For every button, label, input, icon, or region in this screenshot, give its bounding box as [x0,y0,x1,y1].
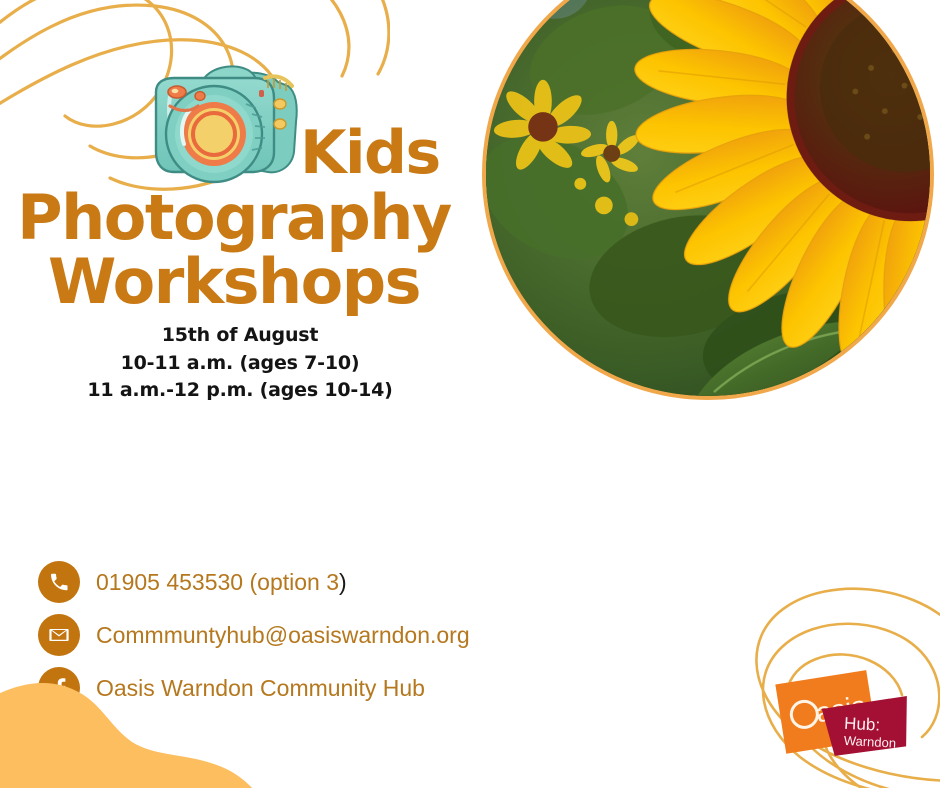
heading-workshops: Workshops [0,252,468,312]
heading-kids: Kids [300,124,440,182]
phone-trailing-paren: ) [339,569,347,595]
contact-phone-text: 01905 453530 (option 3) [96,569,347,596]
phone-icon [38,561,80,603]
schedule-date: 15th of August [0,322,480,350]
heading-photography: Photography [0,188,468,248]
svg-text:Warndon: Warndon [843,733,896,751]
envelope-icon [38,614,80,656]
blob-decoration-bottom-left [0,680,290,788]
sunflower-photo [482,0,934,400]
svg-text:Hub:: Hub: [844,714,881,735]
oasis-hub-logo: asis Hub: Warndon [762,662,922,762]
poster-canvas: Kids Photography Workshops 15th of Augus… [0,0,940,788]
camera-illustration [128,48,318,196]
contact-email-text: Commmuntyhub@oasiswarndon.org [96,622,470,649]
schedule-session-1: 10-11 a.m. (ages 7-10) [0,350,480,378]
schedule-block: 15th of August 10-11 a.m. (ages 7-10) 11… [0,322,480,405]
contact-row-phone[interactable]: 01905 453530 (option 3) [38,560,558,604]
schedule-session-2: 11 a.m.-12 p.m. (ages 10-14) [0,377,480,405]
contact-row-email[interactable]: Commmuntyhub@oasiswarndon.org [38,613,558,657]
